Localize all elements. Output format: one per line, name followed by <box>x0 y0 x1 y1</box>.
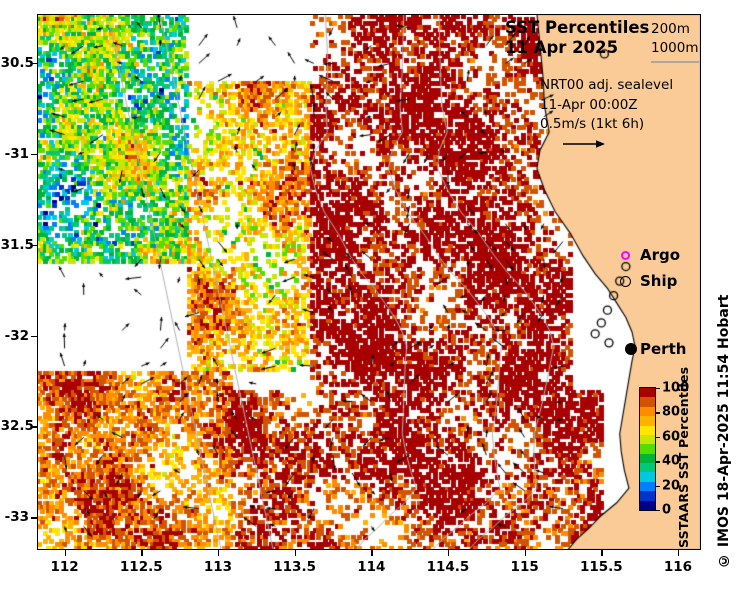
info-product: NRT00 adj. sealevel <box>540 76 673 96</box>
colorbar-tick <box>656 486 660 487</box>
x-tick <box>141 550 142 556</box>
depth-label-200m: 200m <box>651 20 721 39</box>
y-tick <box>31 154 37 155</box>
x-tick <box>601 550 602 556</box>
info-velocity-scale: 0.5m/s (1kt 6h) <box>540 115 673 135</box>
colorbar-band <box>640 397 655 406</box>
depth-contour-line-sample <box>651 61 699 63</box>
velocity-scale-arrow-icon <box>562 138 606 150</box>
x-tick <box>218 550 219 556</box>
colorbar-band <box>640 482 655 491</box>
colorbar-band <box>640 454 655 463</box>
x-tick-label: 113.5 <box>273 559 316 575</box>
model-info-block: NRT00 adj. sealevel 11-Apr 00:00Z 0.5m/s… <box>540 76 673 154</box>
y-tick-label: -33 <box>0 509 29 525</box>
colorbar-band <box>640 501 655 510</box>
y-tick-label: -31.5 <box>0 237 29 253</box>
x-tick-label: 116 <box>664 559 692 575</box>
x-tick <box>65 550 66 556</box>
x-tick-label: 115.5 <box>580 559 623 575</box>
colorbar-band <box>640 472 655 481</box>
x-tick <box>525 550 526 556</box>
colorbar-tick <box>656 388 660 389</box>
ship-marker-icon <box>614 276 636 287</box>
x-tick <box>295 550 296 556</box>
colorbar-band <box>640 388 655 397</box>
copyright-credit: © IMOS 18-Apr-2025 11:54 Hobart <box>716 288 732 568</box>
colorbar-tick-label: 0 <box>662 503 671 518</box>
platform-key: Argo Ship <box>614 242 680 294</box>
colorbar-band <box>640 444 655 453</box>
x-tick-label: 112 <box>51 559 79 575</box>
colorbar-tick <box>656 510 660 511</box>
y-tick <box>31 517 37 518</box>
x-tick <box>448 550 449 556</box>
colorbar-band <box>640 407 655 416</box>
colorbar-band <box>640 435 655 444</box>
x-tick-label: 112.5 <box>120 559 163 575</box>
x-tick-label: 113 <box>204 559 232 575</box>
depth-label-1000m: 1000m <box>651 39 721 58</box>
colorbar-tick <box>656 437 660 438</box>
colorbar: 020406080100 <box>639 387 656 511</box>
colorbar-tick <box>656 412 660 413</box>
map-title-line2: 11 Apr 2025 <box>505 38 635 58</box>
x-tick <box>678 550 679 556</box>
key-label-ship: Ship <box>640 272 677 290</box>
x-tick <box>371 550 372 556</box>
perth-dot-icon <box>625 343 637 355</box>
colorbar-band <box>640 463 655 472</box>
key-row-argo: Argo <box>614 242 680 268</box>
info-timestamp: 11-Apr 00:00Z <box>540 96 673 116</box>
x-tick-label: 115 <box>511 559 539 575</box>
city-marker-perth: Perth <box>625 340 686 358</box>
y-tick-label: -32.5 <box>0 418 29 434</box>
x-tick-label: 114.5 <box>427 559 470 575</box>
key-label-argo: Argo <box>640 246 680 264</box>
key-row-ship: Ship <box>614 268 680 294</box>
colorbar-gradient <box>639 387 656 511</box>
y-tick-label: -31 <box>0 146 29 162</box>
depth-contour-legend: 200m 1000m <box>651 20 721 63</box>
colorbar-band <box>640 426 655 435</box>
sst-percentiles-map: 112112.5113113.5114114.5115115.5116-30.5… <box>0 0 740 592</box>
title-block: SST Percentiles 11 Apr 2025 <box>505 18 635 58</box>
y-tick <box>31 336 37 337</box>
colorbar-band <box>640 416 655 425</box>
y-tick-label: -30.5 <box>0 55 29 71</box>
y-tick-label: -32 <box>0 328 29 344</box>
x-tick-label: 114 <box>357 559 385 575</box>
colorbar-title: SSTAARS SST Percentiles <box>676 388 691 548</box>
argo-marker-icon <box>614 251 636 260</box>
colorbar-tick <box>656 461 660 462</box>
map-title-line1: SST Percentiles <box>505 18 635 38</box>
colorbar-band <box>640 491 655 500</box>
perth-label: Perth <box>640 340 686 358</box>
